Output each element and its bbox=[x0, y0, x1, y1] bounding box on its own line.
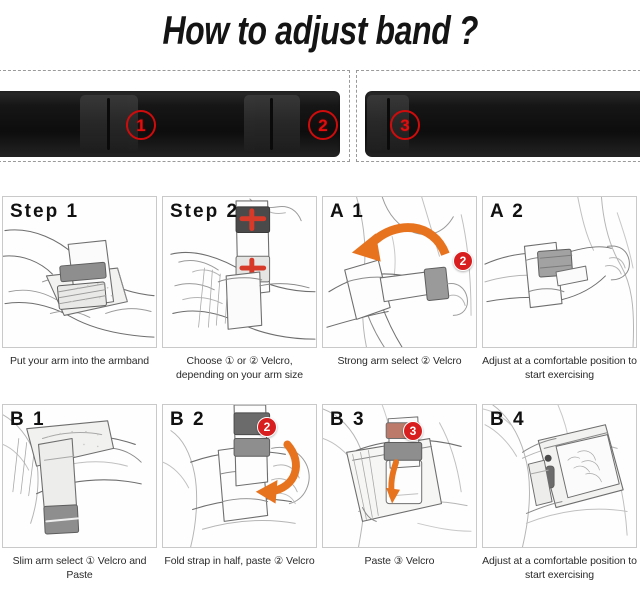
panel-b1-label: B 1 bbox=[10, 410, 46, 429]
band-overview-section: 1 2 3 bbox=[0, 64, 640, 168]
panel-b4-caption: Adjust at a comfortable position to star… bbox=[482, 555, 637, 582]
panel-step-2-frame: Step 2 bbox=[162, 196, 317, 348]
panel-step-1-label: Step 1 bbox=[10, 202, 79, 221]
instruction-row-b: B 1 bbox=[0, 404, 640, 596]
instruction-grid: Step 1 bbox=[0, 196, 640, 596]
band-marker-3: 3 bbox=[390, 110, 420, 140]
panel-step-2-caption: Choose ① or ② Velcro, depending on your … bbox=[162, 355, 317, 382]
band-marker-1: 1 bbox=[126, 110, 156, 140]
band-marker-2: 2 bbox=[308, 110, 338, 140]
panel-b3-frame: B 3 bbox=[322, 404, 477, 548]
panel-b4-label: B 4 bbox=[490, 410, 526, 429]
panel-step-1-frame: Step 1 bbox=[2, 196, 157, 348]
band-marker-2-label: 2 bbox=[318, 117, 327, 134]
band-marker-1-label: 1 bbox=[136, 117, 145, 134]
panel-b3-badge-3: 3 bbox=[403, 421, 423, 441]
panel-b3-caption: Paste ③ Velcro bbox=[322, 555, 477, 569]
panel-b1-caption: Slim arm select ① Velcro and Paste bbox=[2, 555, 157, 582]
velcro-seam bbox=[270, 98, 273, 150]
panel-b4-frame: B 4 bbox=[482, 404, 637, 548]
panel-b2-badge-2-label: 2 bbox=[264, 421, 271, 433]
panel-a2-frame: A 2 bbox=[482, 196, 637, 348]
panel-step-2: Step 2 bbox=[162, 196, 317, 382]
velcro-patch-2 bbox=[244, 95, 300, 153]
panel-a1-label: A 1 bbox=[330, 202, 365, 221]
panel-b3-badge-3-label: 3 bbox=[410, 425, 417, 437]
page-title: How to adjust band ? bbox=[162, 9, 478, 54]
panel-a1-caption: Strong arm select ② Velcro bbox=[322, 355, 477, 369]
panel-b4: B 4 bbox=[482, 404, 637, 582]
band-overview-right-box: 3 bbox=[356, 70, 640, 162]
page-header: How to adjust band ? bbox=[0, 0, 640, 62]
panel-b2-frame: B 2 bbox=[162, 404, 317, 548]
panel-a1: A 1 bbox=[322, 196, 477, 369]
panel-step-1-caption: Put your arm into the armband bbox=[2, 355, 157, 369]
panel-a2-label: A 2 bbox=[490, 202, 525, 221]
panel-a2-caption: Adjust at a comfortable position to star… bbox=[482, 355, 637, 382]
panel-b3: B 3 bbox=[322, 404, 477, 569]
panel-a1-badge-2-label: 2 bbox=[460, 255, 467, 267]
panel-step-2-label: Step 2 bbox=[170, 202, 239, 221]
panel-step-1: Step 1 bbox=[2, 196, 157, 369]
instruction-row-a: Step 1 bbox=[0, 196, 640, 396]
panel-a2: A 2 bbox=[482, 196, 637, 382]
panel-b2-caption: Fold strap in half, paste ② Velcro bbox=[162, 555, 317, 569]
panel-b2-label: B 2 bbox=[170, 410, 206, 429]
panel-b2-badge-2: 2 bbox=[257, 417, 277, 437]
panel-b3-label: B 3 bbox=[330, 410, 366, 429]
panel-b2: B 2 bbox=[162, 404, 317, 569]
band-strip-main bbox=[0, 91, 340, 157]
band-overview-left-box: 1 2 bbox=[0, 70, 350, 162]
panel-b1: B 1 bbox=[2, 404, 157, 582]
velcro-seam bbox=[107, 98, 110, 150]
panel-a1-badge-2: 2 bbox=[453, 251, 473, 271]
band-marker-3-label: 3 bbox=[400, 117, 409, 134]
panel-b1-frame: B 1 bbox=[2, 404, 157, 548]
panel-a1-frame: A 1 bbox=[322, 196, 477, 348]
